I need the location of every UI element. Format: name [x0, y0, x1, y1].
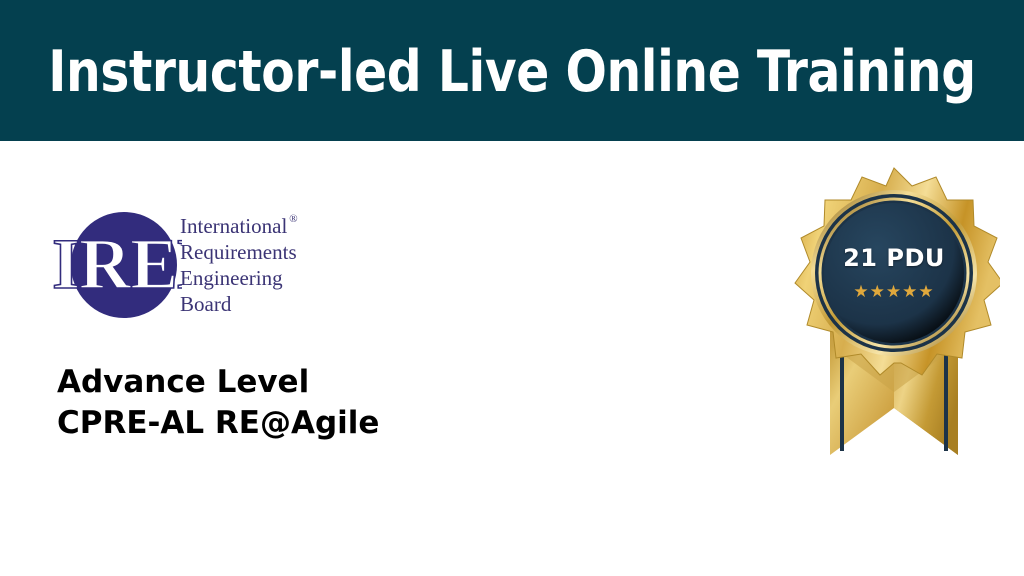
ireb-wordmark-line-1: International® [180, 213, 350, 239]
ireb-wordmark-line-4: Board [180, 291, 350, 317]
registered-trademark-icon: ® [289, 213, 297, 225]
ireb-wordmark-line-3: Engineering [180, 265, 350, 291]
training-slide: Instructor-led Live Online Training IREB… [0, 0, 1024, 576]
header-banner: Instructor-led Live Online Training [0, 0, 1024, 141]
course-name: CPRE-AL RE@Agile [57, 403, 379, 444]
ireb-wordmark-line-2: Requirements [180, 239, 350, 265]
course-title: Advance Level CPRE-AL RE@Agile [57, 362, 379, 444]
ireb-logo-mark: IREB [52, 200, 182, 330]
ireb-logo: IREB International® Requirements Enginee… [52, 200, 342, 330]
page-title: Instructor-led Live Online Training [26, 0, 999, 141]
course-level: Advance Level [57, 362, 379, 403]
pdu-badge: 21 PDU ★★★★★ [788, 160, 1000, 460]
ireb-wordmark: International® Requirements Engineering … [180, 213, 350, 317]
svg-text:IREB: IREB [52, 224, 182, 304]
